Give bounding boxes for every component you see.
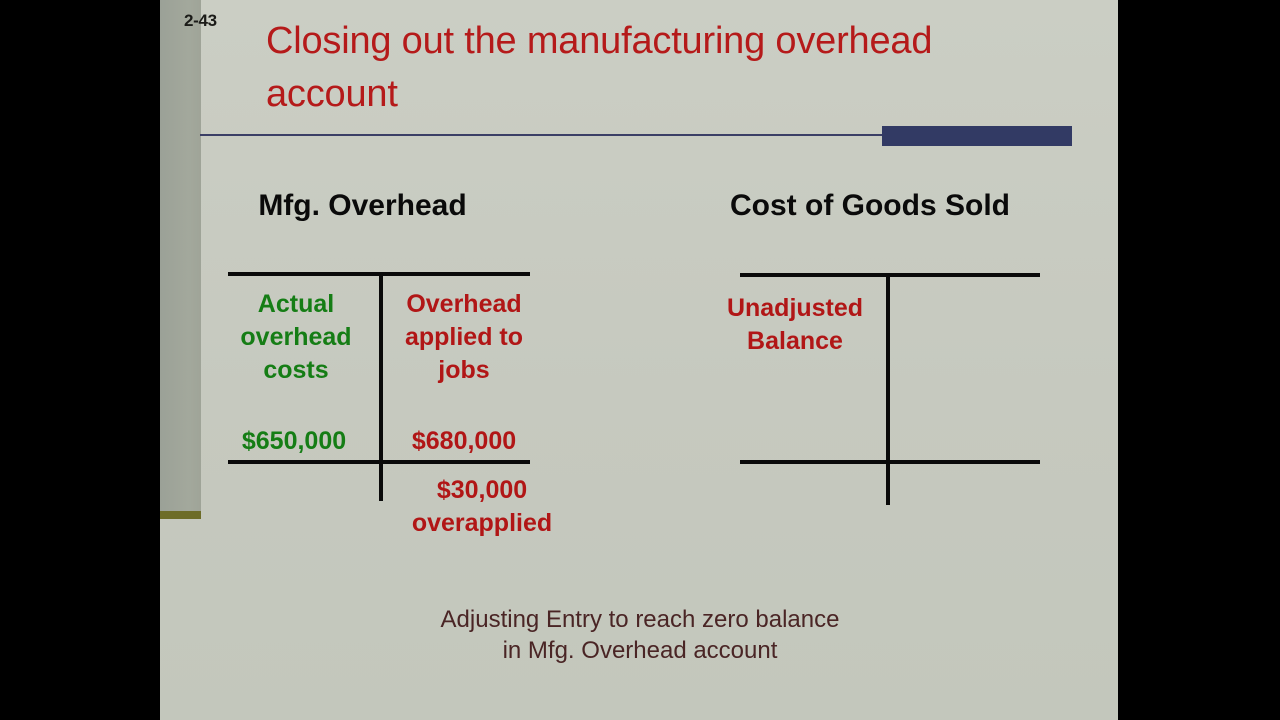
t-account-debit-amount-mfg-overhead: $650,000	[216, 425, 372, 458]
slide-left-band-accent	[160, 511, 201, 519]
t-account-top-rule-cost-of-goods-sold	[740, 273, 1040, 277]
slide-caption-line-2: in Mfg. Overhead account	[270, 635, 1010, 666]
t-account-title-cost-of-goods-sold: Cost of Goods Sold	[725, 186, 1015, 226]
t-account-title-mfg-overhead: Mfg. Overhead	[220, 186, 505, 226]
t-account-divider-mfg-overhead	[379, 276, 383, 501]
t-account-variance-mfg-overhead: $30,000 overapplied	[384, 474, 580, 540]
page-title: Closing out the manufacturing overhead a…	[266, 15, 1026, 121]
t-account-total-rule-mfg-overhead	[228, 460, 530, 464]
t-account-total-rule-cost-of-goods-sold	[740, 460, 1040, 464]
t-account-debit-label-cost-of-goods-sold: Unadjusted Balance	[700, 292, 890, 358]
presentation-slide: 2-43 Closing out the manufacturing overh…	[160, 0, 1118, 720]
slide-number: 2-43	[184, 11, 217, 31]
slide-caption: Adjusting Entry to reach zero balance in…	[270, 604, 1010, 666]
header-accent-block	[882, 126, 1072, 146]
t-account-credit-amount-mfg-overhead: $680,000	[388, 425, 540, 458]
slide-stage: 2-43 Closing out the manufacturing overh…	[0, 0, 1280, 720]
slide-left-band	[160, 0, 201, 511]
t-account-credit-label-mfg-overhead: Overhead applied to jobs	[388, 288, 540, 387]
slide-caption-line-1: Adjusting Entry to reach zero balance	[270, 604, 1010, 635]
t-account-debit-label-mfg-overhead: Actual overhead costs	[220, 288, 372, 387]
